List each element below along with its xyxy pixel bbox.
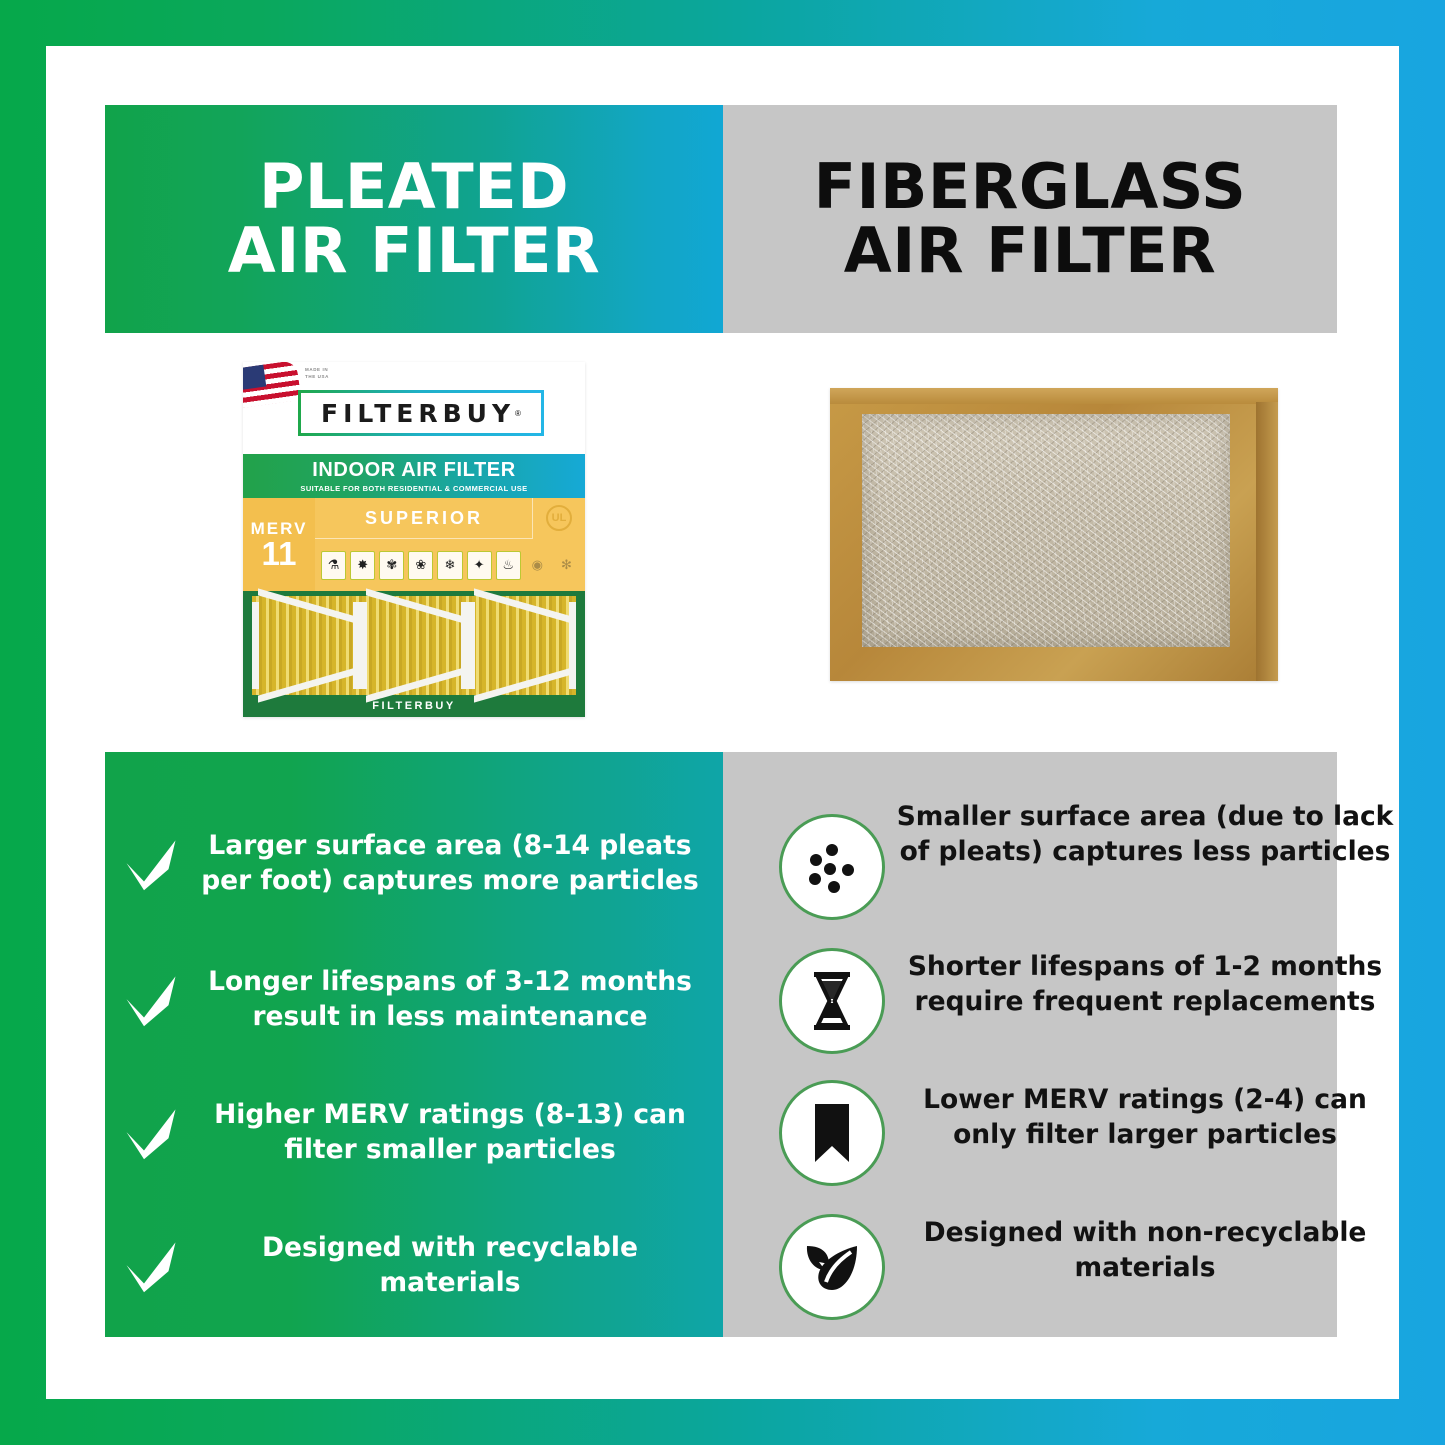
comparison-row-4-right-text: Designed with non-recyclable materials (895, 1216, 1395, 1286)
leaf-icon (779, 1214, 885, 1320)
fiberglass-filter-image (830, 388, 1278, 681)
infographic-canvas: PLEATED AIR FILTER FIBERGLASS AIR FILTER… (0, 0, 1445, 1445)
comparison-row-1-left: Larger surface area (8-14 pleats per foo… (105, 794, 723, 934)
grade-cell: SUPERIOR (315, 498, 533, 539)
merv-value: 11 (262, 537, 297, 570)
check-icon (105, 836, 197, 892)
bookmark-glyph (809, 1102, 855, 1164)
hourglass-glyph (806, 970, 858, 1032)
package-footer: FILTERBUY (243, 695, 585, 717)
particles-glyph (802, 837, 862, 897)
comparison-row-2-left: Longer lifespans of 3-12 months result i… (105, 944, 723, 1056)
hourglass-icon (779, 948, 885, 1054)
odor-icon: ◉ (525, 551, 550, 580)
package-filter-media: FILTERBUY (243, 591, 585, 717)
frame-top-edge (830, 388, 1278, 404)
certification-cell: UL (532, 498, 585, 538)
header-pleated-title: PLEATED AIR FILTER (228, 155, 600, 283)
product-image-zone: MADE IN THE USA FILTERBUY® INDOOR AIR FI… (105, 333, 1337, 752)
grade-label: SUPERIOR (365, 508, 483, 529)
package-band-subtitle: SUITABLE FOR BOTH RESIDENTIAL & COMMERCI… (300, 484, 527, 493)
pollen-icon: ❀ (408, 551, 433, 580)
pleated-filter-package-image: MADE IN THE USA FILTERBUY® INDOOR AIR FI… (243, 362, 585, 717)
virus-icon: ✻ (554, 551, 579, 580)
check-icon (105, 1105, 197, 1161)
frame-right-edge (1256, 402, 1278, 681)
leaf-glyph (801, 1238, 863, 1296)
check-icon (105, 972, 197, 1028)
usa-flag-icon (243, 362, 301, 408)
package-band-title: INDOOR AIR FILTER (312, 459, 516, 482)
header-pleated-line1: PLEATED (259, 150, 569, 223)
mold-icon: ❄ (437, 551, 462, 580)
capture-icon-row: ⚗ ✸ ✾ ❀ ❄ ✦ ♨ ◉ ✻ (321, 544, 579, 586)
registered-trademark-icon: ® (515, 409, 521, 418)
package-top-band: MADE IN THE USA FILTERBUY® (243, 362, 585, 454)
comparison-row-3-left-text: Higher MERV ratings (8-13) can filter sm… (197, 1098, 723, 1168)
comparison-row-4-left-text: Designed with recyclable materials (197, 1231, 723, 1301)
package-footer-brand: FILTERBUY (372, 700, 455, 712)
header-fiberglass-title: FIBERGLASS AIR FILTER (814, 155, 1247, 283)
check-icon (105, 1238, 197, 1294)
comparison-row-2-left-text: Longer lifespans of 3-12 months result i… (197, 965, 723, 1035)
comparison-row-1-right-text: Smaller surface area (due to lack of ple… (895, 800, 1395, 870)
comparison-row-4-left: Designed with recyclable materials (105, 1210, 723, 1322)
comparison-row-1-left-text: Larger surface area (8-14 pleats per foo… (197, 829, 723, 899)
header-pleated-line2: AIR FILTER (228, 219, 600, 283)
comparison-row-3-right-text: Lower MERV ratings (2-4) can only filter… (895, 1083, 1395, 1153)
filterbuy-logo-box: FILTERBUY® (298, 390, 544, 436)
header-fiberglass: FIBERGLASS AIR FILTER (723, 105, 1337, 333)
wire-support-grid (252, 596, 576, 695)
comparison-panel: Larger surface area (8-14 pleats per foo… (105, 752, 1337, 1337)
header-fiberglass-line2: AIR FILTER (814, 219, 1247, 283)
pet-dander-icon: ✦ (467, 551, 492, 580)
header-pleated: PLEATED AIR FILTER (105, 105, 723, 333)
package-indoor-band: INDOOR AIR FILTER SUITABLE FOR BOTH RESI… (243, 454, 585, 498)
dust-icon: ⚗ (321, 551, 346, 580)
bookmark-icon (779, 1080, 885, 1186)
comparison-row-3-left: Higher MERV ratings (8-13) can filter sm… (105, 1077, 723, 1189)
made-in-usa-text: MADE IN THE USA (305, 367, 329, 381)
bacteria-icon: ✾ (379, 551, 404, 580)
made-in-line1: MADE IN (305, 367, 329, 374)
particles-icon (779, 814, 885, 920)
ul-certification-icon: UL (546, 505, 572, 531)
comparison-row-2-right-text: Shorter lifespans of 1-2 months require … (895, 950, 1395, 1020)
header-fiberglass-line1: FIBERGLASS (814, 150, 1247, 223)
insect-icon: ✸ (350, 551, 375, 580)
filterbuy-wordmark: FILTERBUY (321, 399, 515, 428)
made-in-line2: THE USA (305, 374, 329, 381)
merv-badge: MERV 11 (243, 498, 315, 591)
package-spec-band: MERV 11 SUPERIOR UL ⚗ ✸ ✾ ❀ ❄ ✦ ♨ ◉ (243, 498, 585, 591)
smoke-icon: ♨ (496, 551, 521, 580)
fiberglass-media (862, 414, 1230, 647)
